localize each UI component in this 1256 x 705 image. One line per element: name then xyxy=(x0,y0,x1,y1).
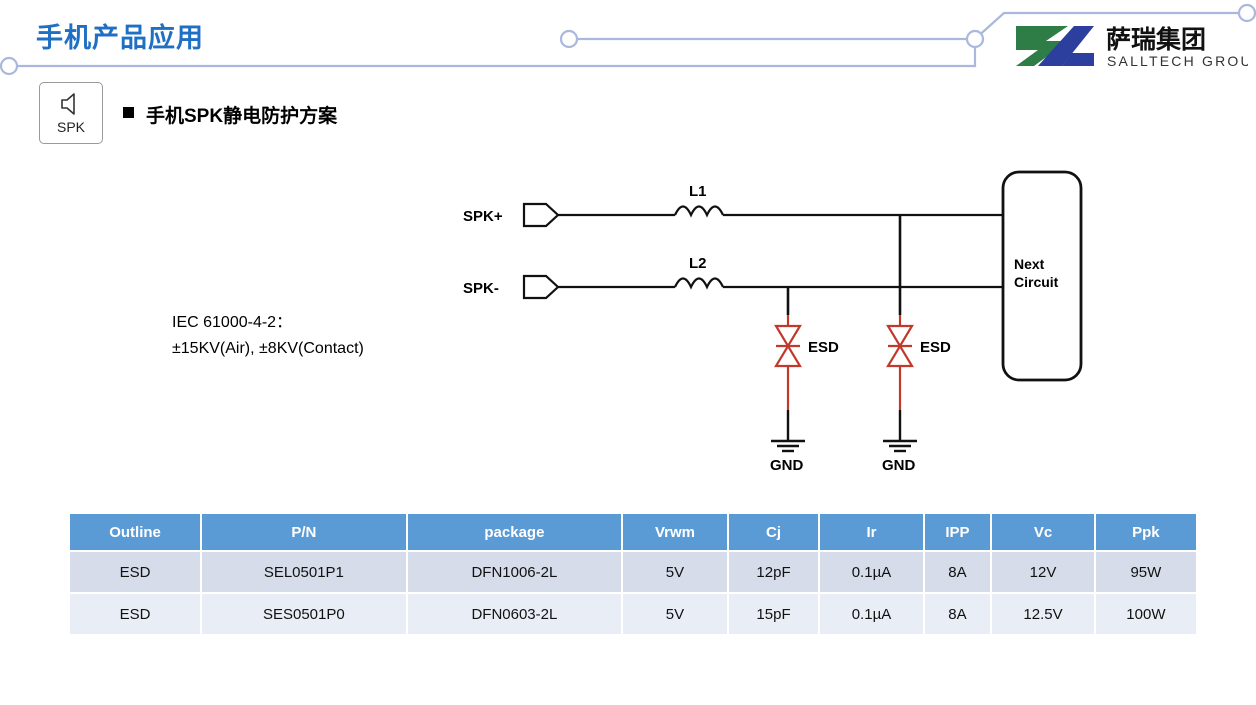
esd-diode-1-label: ESD xyxy=(808,339,839,356)
cell-outline: ESD xyxy=(70,551,201,593)
cell-ir: 0.1µA xyxy=(819,593,923,635)
ground-1-symbol xyxy=(771,410,805,451)
cell-package: DFN1006-2L xyxy=(407,551,623,593)
cell-pn: SES0501P0 xyxy=(201,593,407,635)
cell-package: DFN0603-2L xyxy=(407,593,623,635)
port-connector-spk-plus xyxy=(524,204,558,226)
esd-diode-2-label: ESD xyxy=(920,339,951,356)
cell-vrwm: 5V xyxy=(622,551,728,593)
inductor-l2-label: L2 xyxy=(689,255,707,272)
brand-name-cn: 萨瑞集团 xyxy=(1106,25,1206,54)
inductor-l2-symbol xyxy=(675,279,723,288)
cell-vc: 12.5V xyxy=(991,593,1095,635)
table-col-ipp: IPP xyxy=(924,514,992,551)
port-label-spk-minus: SPK- xyxy=(463,280,499,297)
spec-table: Outline P/N package Vrwm Cj Ir IPP Vc Pp… xyxy=(70,514,1196,636)
trace-node-junction xyxy=(967,31,983,47)
table-col-ppk: Ppk xyxy=(1095,514,1196,551)
table-col-ir: Ir xyxy=(819,514,923,551)
table-col-outline: Outline xyxy=(70,514,201,551)
next-circuit-label-line2: Circuit xyxy=(1014,274,1059,290)
table-col-cj: Cj xyxy=(728,514,820,551)
ground-2-label: GND xyxy=(882,457,916,474)
port-connector-spk-minus xyxy=(524,276,558,298)
iec-standard-note: IEC 61000-4-2： ±15KV(Air), ±8KV(Contact) xyxy=(172,310,364,362)
cell-vc: 12V xyxy=(991,551,1095,593)
section-title: 手机SPK静电防护方案 xyxy=(146,101,337,128)
cell-vrwm: 5V xyxy=(622,593,728,635)
section-bullet-icon xyxy=(123,107,134,118)
speaker-icon xyxy=(40,90,102,118)
trace-node-right xyxy=(1239,5,1255,21)
cell-cj: 12pF xyxy=(728,551,820,593)
iec-note-line1: IEC 61000-4-2： xyxy=(172,310,364,336)
cell-ppk: 100W xyxy=(1095,593,1196,635)
cell-ppk: 95W xyxy=(1095,551,1196,593)
cell-ipp: 8A xyxy=(924,551,992,593)
cell-cj: 15pF xyxy=(728,593,820,635)
cell-ipp: 8A xyxy=(924,593,992,635)
port-label-spk-plus: SPK+ xyxy=(463,208,503,225)
table-header-row: Outline P/N package Vrwm Cj Ir IPP Vc Pp… xyxy=(70,514,1196,551)
ground-2-symbol xyxy=(883,410,917,451)
table-col-package: package xyxy=(407,514,623,551)
table-row: ESD SES0501P0 DFN0603-2L 5V 15pF 0.1µA 8… xyxy=(70,593,1196,635)
cell-pn: SEL0501P1 xyxy=(201,551,407,593)
inductor-l1-symbol xyxy=(675,207,723,216)
inductor-l1-label: L1 xyxy=(689,183,707,200)
trace-node-middle xyxy=(561,31,577,47)
cell-outline: ESD xyxy=(70,593,201,635)
table-col-vc: Vc xyxy=(991,514,1095,551)
esd-diode-2-symbol xyxy=(888,315,912,410)
brand-name-en: SALLTECH GROUP xyxy=(1107,53,1248,69)
page-title: 手机产品应用 xyxy=(36,16,204,55)
brand-logo: 萨瑞集团 SALLTECH GROUP xyxy=(1012,20,1248,72)
logo-mark-icon xyxy=(1016,26,1094,66)
next-circuit-label-line1: Next xyxy=(1014,256,1045,272)
esd-diode-1-symbol xyxy=(776,315,800,410)
spk-icon-box[interactable]: SPK xyxy=(39,82,103,144)
ground-1-label: GND xyxy=(770,457,804,474)
iec-note-line2: ±15KV(Air), ±8KV(Contact) xyxy=(172,336,364,362)
table-col-pn: P/N xyxy=(201,514,407,551)
cell-ir: 0.1µA xyxy=(819,551,923,593)
table-col-vrwm: Vrwm xyxy=(622,514,728,551)
trace-node-left xyxy=(1,58,17,74)
spk-icon-label: SPK xyxy=(40,119,102,135)
table-row: ESD SEL0501P1 DFN1006-2L 5V 12pF 0.1µA 8… xyxy=(70,551,1196,593)
